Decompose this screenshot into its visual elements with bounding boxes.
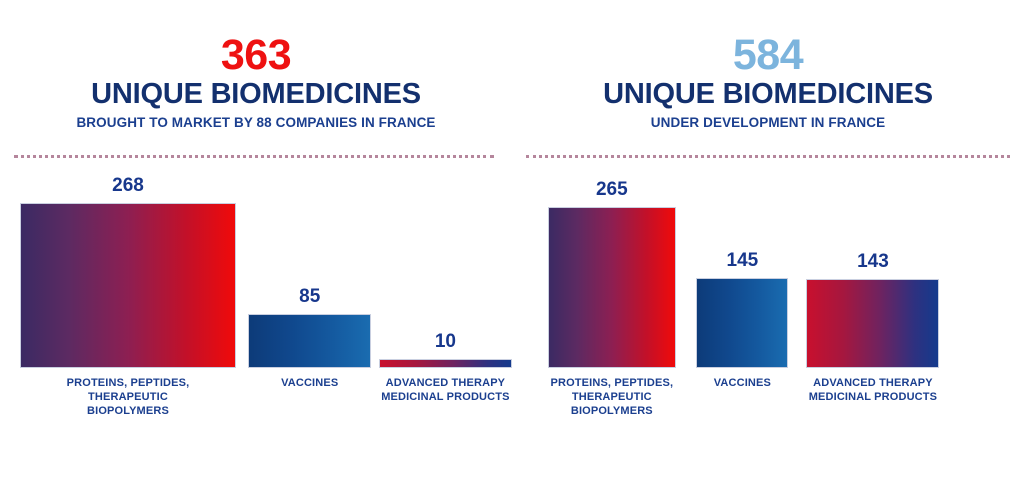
panel-container: 363 UNIQUE BIOMEDICINES BROUGHT TO MARKE… bbox=[0, 0, 1024, 493]
category-atmp-left: ADVANCED THERAPY MEDICINAL PRODUCTS bbox=[379, 376, 512, 404]
category-vaccines-right: VACCINES bbox=[696, 376, 788, 390]
panel-header-left: 363 UNIQUE BIOMEDICINES BROUGHT TO MARKE… bbox=[0, 34, 512, 131]
dashed-divider-right bbox=[526, 155, 1010, 161]
bar-vaccines-left[interactable] bbox=[248, 314, 371, 368]
bars-row-left: 268 85 10 bbox=[0, 176, 512, 368]
panel-brought-to-market: 363 UNIQUE BIOMEDICINES BROUGHT TO MARKE… bbox=[0, 0, 512, 493]
category-label-vaccines-left: VACCINES bbox=[248, 376, 371, 390]
page-subtitle-right: UNDER DEVELOPMENT IN FRANCE bbox=[512, 116, 1024, 131]
bar-proteins-right[interactable] bbox=[548, 207, 676, 368]
headline-number-584: 584 bbox=[512, 34, 1024, 77]
bar-chart-left: 268 85 10 PROTEINS, PEPTIDES, THERAPEUTI bbox=[0, 176, 512, 426]
bars-row-right: 265 145 143 bbox=[512, 176, 1024, 368]
bar-value-proteins-right: 265 bbox=[596, 180, 628, 199]
bar-value-proteins-left: 268 bbox=[112, 176, 144, 195]
category-label-vaccines-right: VACCINES bbox=[696, 376, 788, 390]
category-label-atmp-left: ADVANCED THERAPY MEDICINAL PRODUCTS bbox=[379, 376, 512, 404]
page-title-left: UNIQUE BIOMEDICINES bbox=[0, 79, 512, 109]
categories-row-left: PROTEINS, PEPTIDES, THERAPEUTIC BIOPOLYM… bbox=[0, 376, 512, 418]
bar-slot-vaccines-right: 145 bbox=[696, 176, 788, 368]
page-subtitle-left: BROUGHT TO MARKET BY 88 COMPANIES IN FRA… bbox=[0, 116, 512, 131]
bar-chart-right: 265 145 143 PROTEINS, PEPTIDES, THERAPEU bbox=[512, 176, 1024, 426]
category-atmp-right: ADVANCED THERAPY MEDICINAL PRODUCTS bbox=[806, 376, 939, 404]
bar-value-vaccines-left: 85 bbox=[299, 287, 320, 306]
bar-slot-vaccines-left: 85 bbox=[248, 176, 371, 368]
headline-number-363: 363 bbox=[0, 34, 512, 77]
bar-slot-atmp-left: 10 bbox=[379, 176, 512, 368]
bar-value-atmp-right: 143 bbox=[857, 252, 889, 271]
panel-under-development: 584 UNIQUE BIOMEDICINES UNDER DEVELOPMEN… bbox=[512, 0, 1024, 493]
bar-slot-proteins-left: 268 bbox=[20, 176, 235, 368]
categories-row-right: PROTEINS, PEPTIDES, THERAPEUTIC BIOPOLYM… bbox=[512, 376, 1024, 418]
category-label-atmp-right: ADVANCED THERAPY MEDICINAL PRODUCTS bbox=[806, 376, 939, 404]
panel-header-right: 584 UNIQUE BIOMEDICINES UNDER DEVELOPMEN… bbox=[512, 34, 1024, 131]
category-label-proteins-left: PROTEINS, PEPTIDES, THERAPEUTIC BIOPOLYM… bbox=[20, 376, 235, 418]
bar-value-atmp-left: 10 bbox=[435, 332, 456, 351]
bar-slot-atmp-right: 143 bbox=[806, 176, 939, 368]
bar-atmp-right[interactable] bbox=[806, 279, 939, 368]
bar-value-vaccines-right: 145 bbox=[727, 251, 759, 270]
dashed-divider-left bbox=[14, 155, 494, 161]
infographic-root: 363 UNIQUE BIOMEDICINES BROUGHT TO MARKE… bbox=[0, 0, 1024, 493]
bar-slot-proteins-right: 265 bbox=[548, 176, 676, 368]
category-label-proteins-right: PROTEINS, PEPTIDES, THERAPEUTIC BIOPOLYM… bbox=[548, 376, 676, 418]
page-title-right: UNIQUE BIOMEDICINES bbox=[512, 79, 1024, 109]
category-proteins-left: PROTEINS, PEPTIDES, THERAPEUTIC BIOPOLYM… bbox=[20, 376, 235, 418]
category-proteins-right: PROTEINS, PEPTIDES, THERAPEUTIC BIOPOLYM… bbox=[548, 376, 676, 418]
bar-atmp-left[interactable] bbox=[379, 359, 512, 368]
bar-vaccines-right[interactable] bbox=[696, 278, 788, 368]
category-vaccines-left: VACCINES bbox=[248, 376, 371, 390]
bar-proteins-left[interactable] bbox=[20, 203, 235, 368]
